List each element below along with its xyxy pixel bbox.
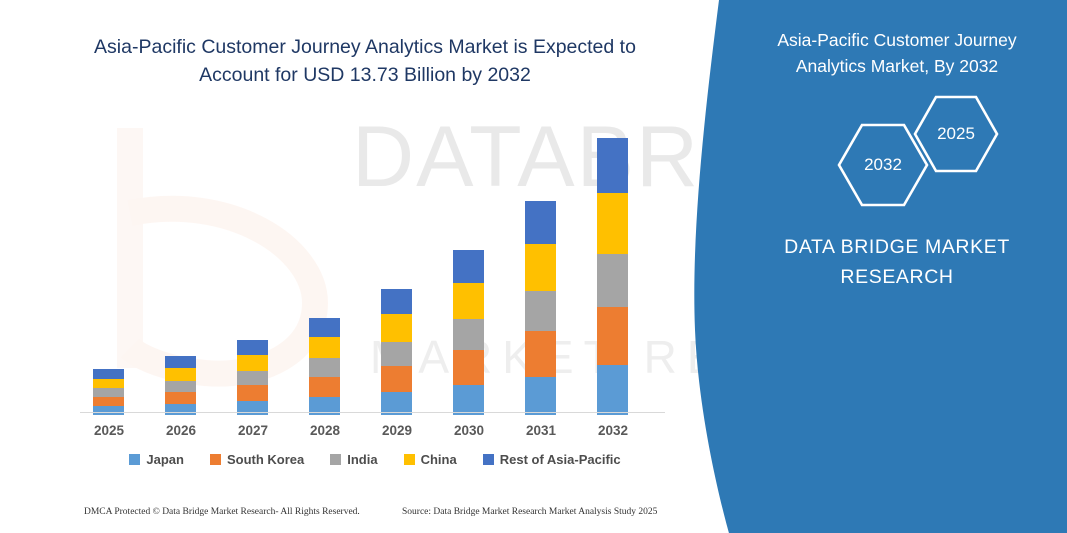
bar-segment-rest-of-asia-pacific	[597, 138, 628, 193]
bar-segment-china	[165, 368, 196, 381]
bar-segment-south-korea	[237, 385, 268, 401]
bar-segment-south-korea	[525, 331, 556, 376]
legend-item-south-korea[interactable]: South Korea	[210, 452, 304, 467]
panel-title: Asia-Pacific Customer Journey Analytics …	[747, 27, 1047, 79]
bar-segment-china	[93, 379, 124, 389]
bar-segment-japan	[525, 377, 556, 416]
bar-segment-rest-of-asia-pacific	[309, 318, 340, 337]
legend-item-rest-of-asia-pacific[interactable]: Rest of Asia-Pacific	[483, 452, 621, 467]
x-axis-tick-labels: 20252026202720282029203020312032	[80, 423, 670, 445]
bar-2032	[597, 138, 628, 415]
legend-swatch-icon	[483, 454, 494, 465]
footer-copyright: DMCA Protected © Data Bridge Market Rese…	[84, 507, 360, 517]
bar-segment-south-korea	[453, 350, 484, 385]
bar-segment-india	[93, 388, 124, 397]
legend-label: India	[347, 452, 377, 467]
footer-source: Source: Data Bridge Market Research Mark…	[402, 507, 657, 517]
bar-segment-rest-of-asia-pacific	[237, 340, 268, 355]
legend-label: China	[421, 452, 457, 467]
bar-segment-china	[309, 337, 340, 358]
bar-segment-south-korea	[309, 377, 340, 398]
x-axis-line	[80, 412, 665, 413]
legend-swatch-icon	[330, 454, 341, 465]
footer: DMCA Protected © Data Bridge Market Rese…	[84, 507, 684, 521]
bar-segment-china	[597, 193, 628, 253]
bar-segment-japan	[597, 365, 628, 415]
bar-segment-india	[237, 371, 268, 385]
hexagon-2032-label: 2032	[837, 155, 929, 175]
bar-segment-india	[453, 319, 484, 350]
x-tick-2027: 2027	[217, 423, 289, 438]
x-tick-2032: 2032	[577, 423, 649, 438]
x-tick-2026: 2026	[145, 423, 217, 438]
legend-label: Rest of Asia-Pacific	[500, 452, 621, 467]
bar-2030	[453, 250, 484, 415]
bar-2026	[165, 356, 196, 415]
brand-panel: Asia-Pacific Customer Journey Analytics …	[687, 0, 1067, 533]
bar-segment-japan	[93, 406, 124, 415]
x-tick-2029: 2029	[361, 423, 433, 438]
bar-segment-india	[597, 254, 628, 307]
chart-legend: JapanSouth KoreaIndiaChinaRest of Asia-P…	[80, 452, 670, 467]
bar-segment-south-korea	[597, 307, 628, 365]
legend-item-japan[interactable]: Japan	[129, 452, 184, 467]
bar-segment-south-korea	[165, 392, 196, 405]
bar-segment-rest-of-asia-pacific	[525, 201, 556, 244]
bar-2028	[309, 318, 340, 415]
bar-2031	[525, 201, 556, 415]
x-tick-2025: 2025	[73, 423, 145, 438]
infographic-root: DATABRIDGE MARKET RESEARCH Asia-Pacific …	[0, 0, 1067, 533]
bar-segment-china	[237, 355, 268, 371]
legend-item-china[interactable]: China	[404, 452, 457, 467]
bar-segment-india	[309, 358, 340, 377]
bar-segment-china	[453, 283, 484, 319]
legend-label: South Korea	[227, 452, 304, 467]
stacked-bar-chart	[80, 120, 670, 415]
legend-item-india[interactable]: India	[330, 452, 377, 467]
bar-segment-india	[381, 342, 412, 366]
legend-label: Japan	[146, 452, 184, 467]
bar-segment-rest-of-asia-pacific	[165, 356, 196, 368]
bar-segment-south-korea	[381, 366, 412, 393]
bar-segment-india	[165, 381, 196, 392]
legend-swatch-icon	[129, 454, 140, 465]
bar-segment-japan	[165, 404, 196, 415]
legend-swatch-icon	[210, 454, 221, 465]
bar-segment-rest-of-asia-pacific	[93, 369, 124, 378]
x-tick-2030: 2030	[433, 423, 505, 438]
chart-title: Asia-Pacific Customer Journey Analytics …	[60, 33, 670, 89]
legend-swatch-icon	[404, 454, 415, 465]
bar-segment-china	[525, 244, 556, 291]
bar-2027	[237, 340, 268, 415]
hexagon-2032: 2032	[837, 123, 929, 207]
brand-name: DATA BRIDGE MARKET RESEARCH	[737, 232, 1057, 292]
bar-segment-south-korea	[93, 397, 124, 407]
bar-2025	[93, 369, 124, 415]
bar-2029	[381, 289, 412, 415]
bar-segment-china	[381, 314, 412, 341]
bar-segment-rest-of-asia-pacific	[453, 250, 484, 283]
x-tick-2028: 2028	[289, 423, 361, 438]
bar-segment-rest-of-asia-pacific	[381, 289, 412, 314]
x-tick-2031: 2031	[505, 423, 577, 438]
bar-segment-india	[525, 291, 556, 332]
hexagon-group: 2025 2032	[817, 95, 1037, 205]
bar-segment-japan	[453, 385, 484, 415]
